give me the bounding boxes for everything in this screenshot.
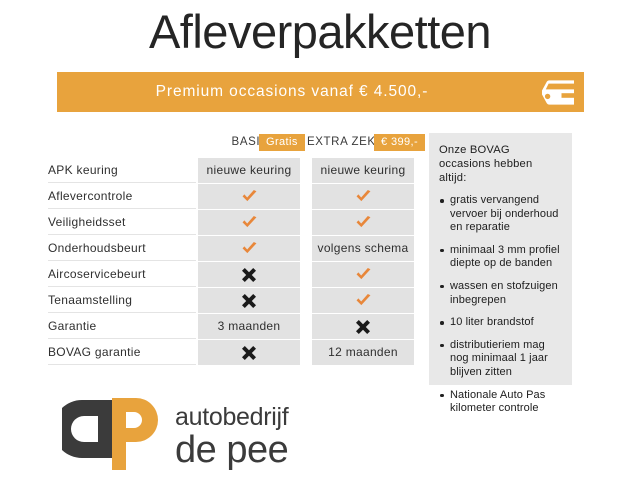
list-item: minimaal 3 mm profiel diepte op de bande… [439,244,562,271]
badge-extra-zeker-price: € 399,- [374,134,425,151]
page-title: Afleverpakketten [0,4,640,60]
logo-line-de-pee: de pee [175,430,288,470]
logo-wordmark: autobedrijf de pee [175,404,288,470]
check-icon [355,216,372,230]
cross-icon [242,268,256,282]
bovag-info-title: Onze BOVAG occasions hebben altijd: [439,143,562,185]
table-row: APK keuringnieuwe keuringnieuwe keuring [47,158,415,183]
table-row: Aircoservicebeurt [47,262,415,287]
table-row: Garantie3 maanden [47,314,415,339]
cross-icon [242,294,256,308]
list-item: gratis vervangend vervoer bij onderhoud … [439,194,562,235]
cell-basis [198,340,300,365]
cell-basis [198,288,300,313]
badge-basis-price: Gratis [259,134,305,151]
cell-basis [198,210,300,235]
cell-basis: nieuwe keuring [198,158,300,183]
list-item: distributieriem mag nog minimaal 1 jaar … [439,339,562,380]
row-label: BOVAG garantie [48,340,196,365]
row-label: Aflevercontrole [48,184,196,209]
check-icon [241,190,258,204]
cell-basis: 3 maanden [198,314,300,339]
table-body: APK keuringnieuwe keuringnieuwe keuringA… [47,158,415,365]
table-row: Tenaamstelling [47,288,415,313]
row-label: Garantie [48,314,196,339]
logo-monogram-icon [62,398,174,475]
cell-extra-zeker [312,288,414,313]
row-label: Veiligheidsset [48,210,196,235]
list-item: 10 liter brandstof [439,316,562,330]
cell-extra-zeker [312,262,414,287]
logo-line-autobedrijf: autobedrijf [175,404,288,431]
cross-icon [242,346,256,360]
cell-extra-zeker: volgens schema [312,236,414,261]
table-row: Veiligheidsset [47,210,415,235]
cell-extra-zeker [312,184,414,209]
table-row: Aflevercontrole [47,184,415,209]
cell-extra-zeker [312,314,414,339]
package-comparison-table: BASIS Gratis EXTRA ZEKER € 399,- APK keu… [47,132,415,366]
table-row: Onderhoudsbeurtvolgens schema [47,236,415,261]
cell-basis [198,184,300,209]
cell-extra-zeker [312,210,414,235]
bovag-info-bullet-list: gratis vervangend vervoer bij onderhoud … [439,194,562,416]
bovag-info-box: Onze BOVAG occasions hebben altijd: grat… [429,133,572,385]
cell-basis [198,236,300,261]
table-row: BOVAG garantie12 maanden [47,340,415,365]
check-icon [355,268,372,282]
check-icon [241,242,258,256]
row-label: Onderhoudsbeurt [48,236,196,261]
promo-banner: Premium occasions vanaf € 4.500,- [57,72,584,112]
check-icon [241,216,258,230]
list-item: Nationale Auto Pas kilometer controle [439,389,562,416]
list-item: wassen en stofzuigen inbegrepen [439,280,562,307]
cell-extra-zeker: 12 maanden [312,340,414,365]
car-icon [534,77,578,108]
cell-basis [198,262,300,287]
check-icon [355,190,372,204]
row-label: APK keuring [48,158,196,183]
company-logo: autobedrijf de pee [62,398,332,476]
table-header-row: BASIS Gratis EXTRA ZEKER € 399,- [47,132,415,158]
cell-extra-zeker: nieuwe keuring [312,158,414,183]
cross-icon [356,320,370,334]
row-label: Tenaamstelling [48,288,196,313]
check-icon [355,294,372,308]
promo-banner-text: Premium occasions vanaf € 4.500,- [57,72,527,112]
row-label: Aircoservicebeurt [48,262,196,287]
